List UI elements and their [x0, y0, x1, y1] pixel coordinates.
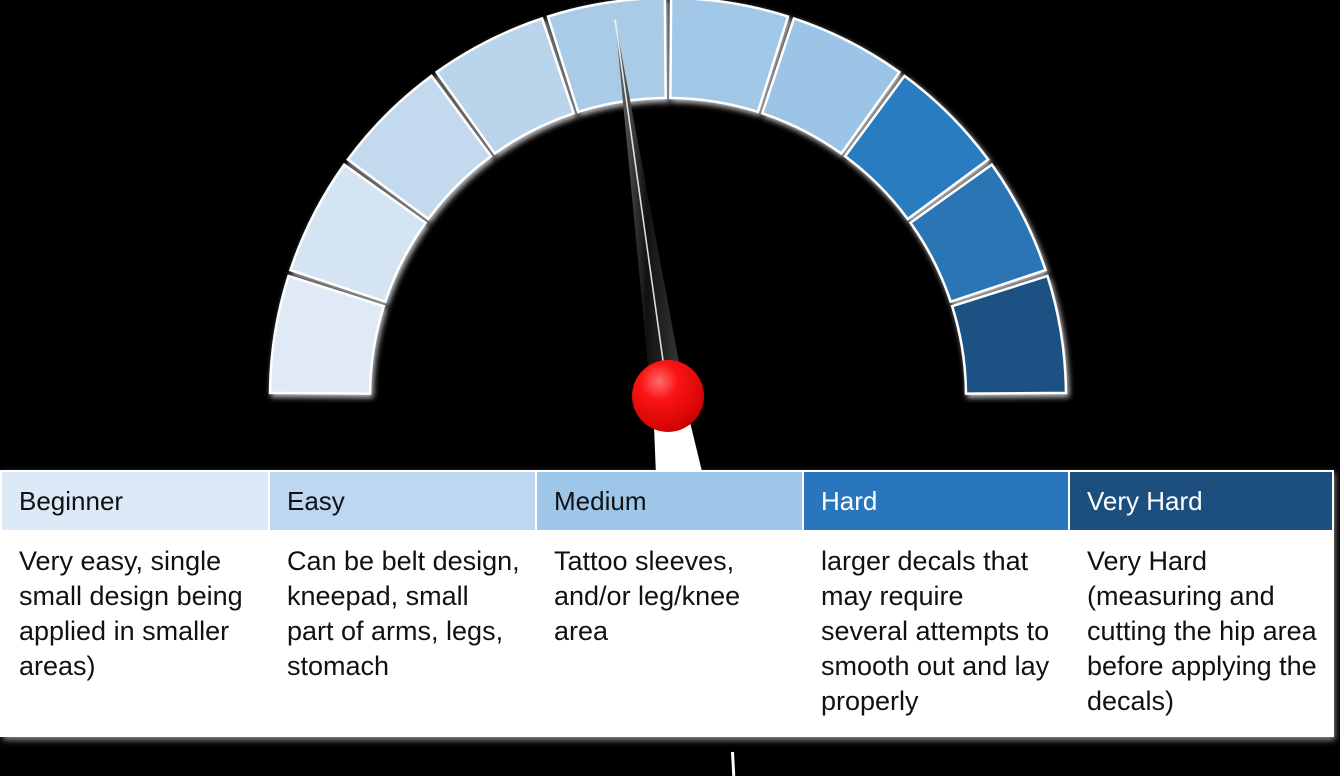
cell-text: larger decals that may require several a…: [821, 544, 1054, 719]
column-header-medium[interactable]: Medium: [536, 471, 803, 531]
column-header-hard[interactable]: Hard: [803, 471, 1069, 531]
slide-canvas: Beginner Easy Medium Hard Very Hard Very…: [0, 0, 1340, 776]
column-header-beginner[interactable]: Beginner: [1, 471, 269, 531]
cell-text: Can be belt design, kneepad, small part …: [287, 544, 521, 684]
cell-very-hard-description: Very Hard (measuring and cutting the hip…: [1069, 531, 1333, 736]
gauge-svg: [0, 0, 1340, 470]
cell-easy-description: Can be belt design, kneepad, small part …: [269, 531, 536, 736]
cell-text: Tattoo sleeves, and/or leg/knee area: [554, 544, 788, 649]
cell-medium-description: Tattoo sleeves, and/or leg/knee area: [536, 531, 803, 736]
column-header-very-hard[interactable]: Very Hard: [1069, 471, 1333, 531]
needle-tail-decoration: [731, 752, 735, 776]
cell-hard-description: larger decals that may require several a…: [803, 531, 1069, 736]
table-header-row: Beginner Easy Medium Hard Very Hard: [1, 471, 1333, 531]
difficulty-gauge: [0, 0, 1340, 470]
gauge-hub[interactable]: [632, 360, 704, 432]
difficulty-matrix: Beginner Easy Medium Hard Very Hard Very…: [0, 470, 1332, 737]
difficulty-table: Beginner Easy Medium Hard Very Hard Very…: [0, 470, 1334, 737]
cell-beginner-description: Very easy, single small design being app…: [1, 531, 269, 736]
column-header-easy[interactable]: Easy: [269, 471, 536, 531]
table-row: Very easy, single small design being app…: [1, 531, 1333, 736]
cell-text: Very easy, single small design being app…: [19, 544, 254, 684]
cell-text: Very Hard (measuring and cutting the hip…: [1087, 544, 1318, 719]
